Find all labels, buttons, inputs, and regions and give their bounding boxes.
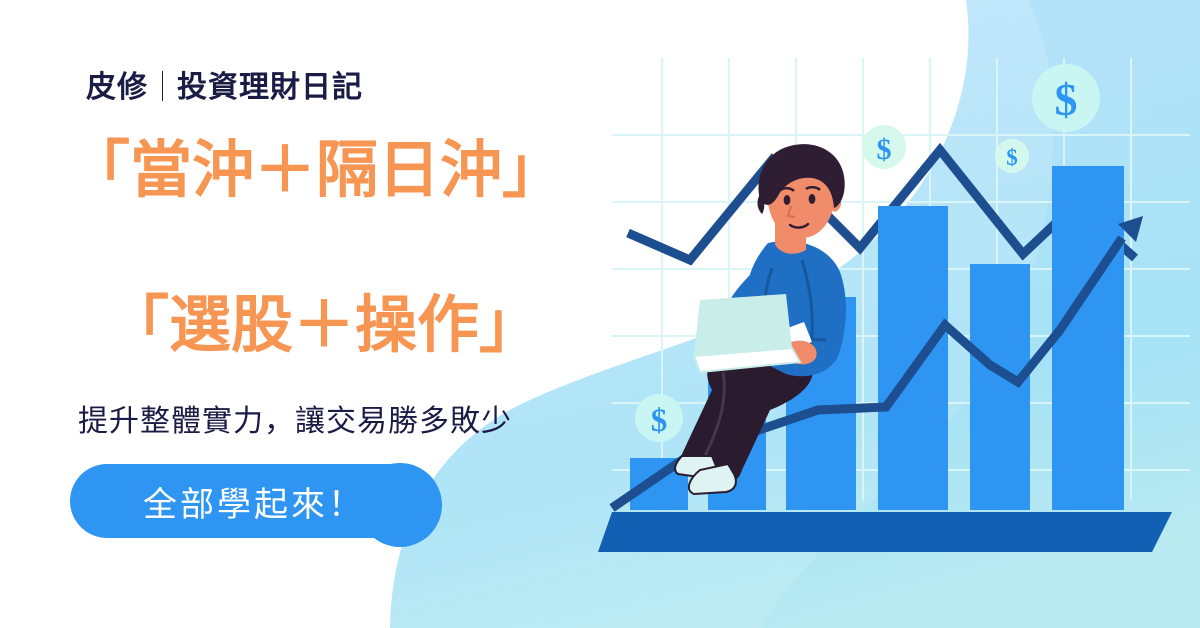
brand-separator	[162, 71, 163, 101]
cta-button[interactable]: 全部學起來！	[70, 464, 438, 538]
brand-subtitle: 投資理財日記	[177, 62, 363, 106]
text-column: 皮修 投資理財日記 「當沖＋隔日沖」 「選股＋操作」 提升整體實力，讓交易勝多敗…	[0, 0, 620, 628]
brand-name: 皮修	[86, 62, 148, 106]
brand-lockup: 皮修 投資理財日記	[86, 62, 363, 106]
cta-button-label: 全部學起來！	[143, 477, 365, 526]
promo-banner: $ $ $ $ 皮修 投資理財日記 「當沖＋隔日沖」 「選股＋操作」 提升整體實	[0, 0, 1200, 628]
headline-line-1: 「當沖＋隔日沖」	[68, 140, 564, 202]
subtitle-text: 提升整體實力，讓交易勝多敗少	[78, 396, 512, 440]
headline-line-2: 「選股＋操作」	[107, 295, 541, 357]
